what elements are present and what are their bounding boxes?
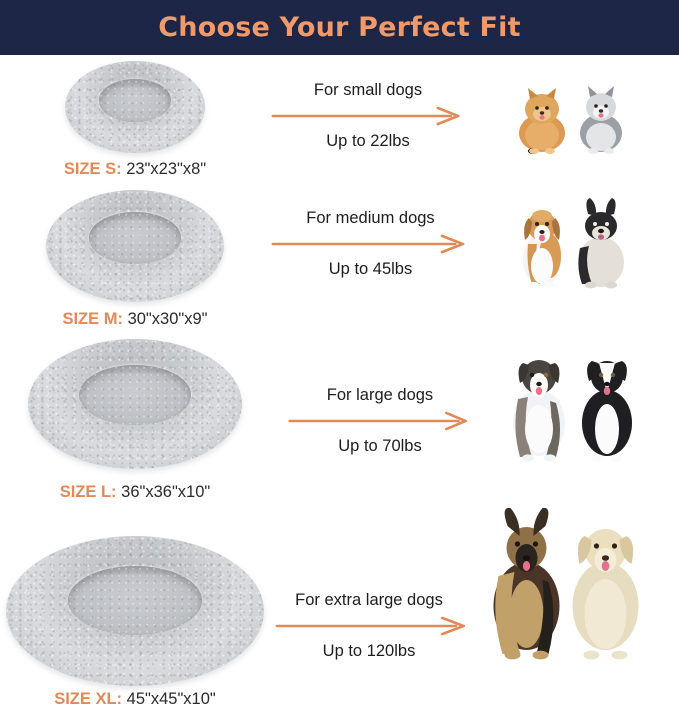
german-shepherd-dog: [494, 508, 560, 660]
french-bulldog-dog: [578, 198, 624, 288]
size-row-small: SIZE S: 23"x23"x8" For small dogs Up to …: [0, 55, 679, 180]
bed-inner-cushion: [68, 566, 202, 635]
arrow-cell-extra-large: For extra large dogs Up to 120lbs: [264, 500, 474, 661]
size-row-large: SIZE L: 36"x36"x10" For large dogs Up to…: [0, 325, 679, 500]
bed-cell-extra-large: SIZE XL: 45"x45"x10": [0, 500, 270, 661]
arrow-right-icon: [268, 233, 473, 255]
round-dog-bed-icon: [46, 190, 224, 302]
size-dimensions-small: 23"x23"x8": [126, 160, 206, 178]
bed-inner-cushion: [99, 79, 172, 121]
medium-dogs-photo: [504, 188, 644, 293]
arrow-right-icon: [285, 410, 475, 432]
dogs-cell-medium: [468, 180, 679, 325]
dogs-cell-large: [468, 325, 679, 500]
arrow-extra-large: [264, 615, 474, 637]
fit-text-extra-large: For extra large dogs: [264, 590, 474, 611]
weight-text-extra-large: Up to 120lbs: [264, 641, 474, 662]
dogs-cell-small: [468, 55, 679, 180]
fit-text-small: For small dogs: [268, 80, 468, 101]
beagle-dog: [523, 210, 561, 288]
size-key-small: SIZE S:: [64, 160, 122, 178]
bed-cell-medium: SIZE M: 30"x30"x9": [0, 180, 270, 325]
border-collie-dog: [582, 361, 632, 462]
round-dog-bed-icon: [65, 61, 205, 153]
size-row-medium: SIZE M: 30"x30"x9" For medium dogs Up to…: [0, 180, 679, 325]
arrow-large: [285, 410, 475, 432]
arrow-right-icon: [268, 105, 468, 127]
arrow-cell-small: For small dogs Up to 22lbs: [268, 55, 468, 180]
bed-inner-cushion: [79, 365, 190, 425]
arrow-medium: [268, 233, 473, 255]
arrow-cell-medium: For medium dogs Up to 45lbs: [268, 180, 473, 325]
dogs-cell-extra-large: [455, 500, 679, 661]
bed-inner-cushion: [89, 212, 182, 264]
size-dimensions-extra-large: 45"x45"x10": [127, 690, 216, 708]
fit-text-large: For large dogs: [285, 385, 475, 406]
weight-text-small: Up to 22lbs: [268, 131, 468, 152]
size-row-extra-large: SIZE XL: 45"x45"x10" For extra large dog…: [0, 500, 679, 661]
arrow-small: [268, 105, 468, 127]
size-dimensions-large: 36"x36"x10": [121, 483, 210, 501]
fit-text-medium: For medium dogs: [268, 208, 473, 229]
size-label-small: SIZE S: 23"x23"x8": [0, 160, 270, 179]
arrow-right-icon: [264, 615, 474, 637]
size-key-large: SIZE L:: [60, 483, 117, 501]
golden-retriever-dog: [573, 529, 639, 659]
size-label-extra-large: SIZE XL: 45"x45"x10": [0, 690, 270, 709]
australian-shepherd-dog: [513, 360, 565, 462]
size-key-extra-large: SIZE XL:: [54, 690, 122, 708]
extra-large-dogs-photo: [475, 502, 660, 662]
round-dog-bed-icon: [6, 536, 264, 686]
weight-text-large: Up to 70lbs: [285, 436, 475, 457]
yorkshire-terrier-dog: [580, 86, 622, 154]
pomeranian-dog: [519, 88, 565, 154]
page-title: Choose Your Perfect Fit: [158, 12, 520, 43]
large-dogs-photo: [494, 337, 654, 465]
small-dogs-photo: [509, 73, 639, 155]
weight-text-medium: Up to 45lbs: [268, 259, 473, 280]
bed-cell-large: SIZE L: 36"x36"x10": [0, 325, 270, 500]
size-chart: SIZE S: 23"x23"x8" For small dogs Up to …: [0, 55, 679, 661]
bed-cell-small: SIZE S: 23"x23"x8": [0, 55, 270, 180]
arrow-cell-large: For large dogs Up to 70lbs: [285, 325, 475, 500]
round-dog-bed-icon: [28, 339, 242, 469]
page-header: Choose Your Perfect Fit: [0, 0, 679, 55]
